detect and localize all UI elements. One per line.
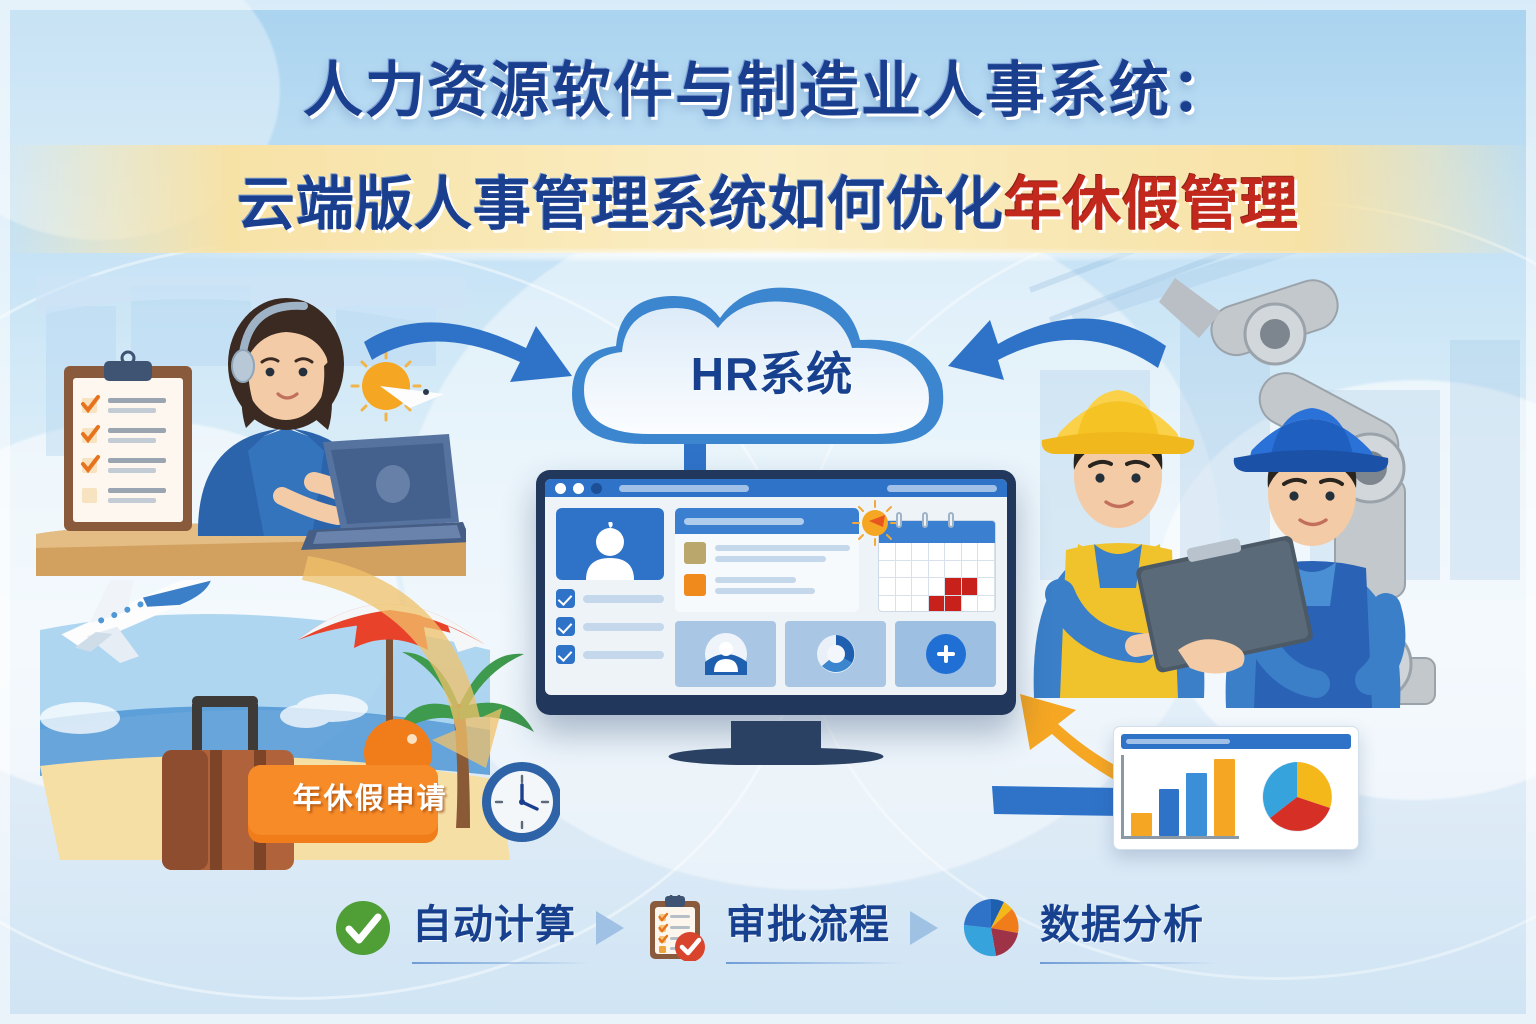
profile-tile[interactable]: [675, 621, 776, 687]
feature-label: 审批流程: [726, 903, 890, 947]
page-title: 人力资源软件与制造业人事系统：: [0, 42, 1536, 129]
calendar-grid: [879, 543, 995, 612]
analytics-card[interactable]: [1113, 726, 1359, 850]
feature-label: 数据分析: [1040, 903, 1204, 947]
dashboard-left-column: [556, 508, 664, 687]
dashboard-checkbox-row[interactable]: [556, 645, 664, 664]
calendar-leave-day: [929, 596, 946, 613]
checkbox-checked-icon[interactable]: [556, 617, 575, 636]
calendar-rings: [896, 512, 954, 528]
leave-calendar-card[interactable]: [868, 508, 996, 612]
feature-item-data-analysis[interactable]: 数据分析: [960, 892, 1204, 964]
bar: [1159, 789, 1180, 836]
dashboard-screen: [545, 479, 1007, 695]
dashboard-right-column: [675, 508, 996, 687]
pie-chart-icon: [1258, 758, 1336, 836]
clipboard-check-icon: [646, 897, 708, 959]
subtitle-highlight-text: 年休假管理: [1004, 172, 1299, 237]
feature-label-wrap: 数据分析: [1040, 892, 1204, 964]
status-swatch: [684, 574, 706, 596]
pie-chart-icon: [960, 897, 1022, 959]
dashboard-titlebar: [545, 479, 1007, 497]
avatar: [556, 508, 664, 580]
cloud-label: HR系统: [552, 338, 992, 404]
info-row-lines: [715, 577, 850, 594]
sun-icon: [852, 500, 898, 546]
employee-info-card[interactable]: [675, 508, 859, 612]
analytics-card-body: [1121, 755, 1351, 839]
feature-label: 自动计算: [412, 903, 576, 947]
bar: [1186, 773, 1207, 836]
calendar-leave-day: [962, 578, 979, 596]
feature-label-wrap: 审批流程: [726, 892, 890, 964]
calendar-leave-day: [945, 596, 962, 613]
info-card-header: [675, 508, 859, 534]
window-dot: [573, 483, 584, 494]
subtitle-primary-text: 云端版人事管理系统如何优化: [237, 172, 1004, 237]
donut-chart-icon: [814, 632, 858, 676]
info-card-rows: [675, 534, 859, 612]
checkbox-checked-icon[interactable]: [556, 645, 575, 664]
green-check-icon: [332, 897, 394, 959]
calendar-leave-day: [945, 578, 962, 596]
donut-chart-tile[interactable]: [785, 621, 886, 687]
info-row: [684, 574, 850, 596]
info-row: [684, 542, 850, 564]
feature-label-wrap: 自动计算: [412, 892, 576, 964]
checkbox-label-placeholder: [583, 651, 664, 659]
hr-system-cloud: HR系统: [552, 278, 992, 458]
feature-item-auto-calculation[interactable]: 自动计算: [332, 892, 576, 964]
dashboard-tiles: [675, 621, 996, 687]
subtitle-band: 云端版人事管理系统如何优化年休假管理: [0, 145, 1536, 253]
window-dot: [591, 483, 602, 494]
checkbox-checked-icon[interactable]: [556, 589, 575, 608]
arrow-gold-curve-icon: [300, 540, 560, 790]
add-tile[interactable]: [895, 621, 996, 687]
window-dot: [555, 483, 566, 494]
status-swatch: [684, 542, 706, 564]
pie-chart: [1243, 755, 1351, 839]
title-block: 人力资源软件与制造业人事系统：: [0, 42, 1536, 129]
monitor-base: [669, 748, 884, 765]
dashboard-checkbox-row[interactable]: [556, 589, 664, 608]
titlebar-placeholder: [619, 485, 749, 492]
person-circle-icon: [704, 632, 748, 676]
bar: [1214, 759, 1235, 836]
user-avatar-icon: [578, 522, 642, 580]
dashboard-body: [545, 497, 1007, 695]
chevron-right-icon: [590, 905, 632, 951]
hr-dashboard-monitor: [536, 470, 1016, 715]
plus-icon[interactable]: [926, 634, 966, 674]
info-row-lines: [715, 545, 850, 562]
titlebar-placeholder: [887, 485, 997, 492]
bar: [1131, 813, 1152, 836]
chevron-right-icon: [904, 905, 946, 951]
checkbox-label-placeholder: [583, 623, 664, 631]
feature-item-approval-flow[interactable]: 审批流程: [646, 892, 890, 964]
checkbox-label-placeholder: [583, 595, 664, 603]
analytics-card-header: [1121, 734, 1351, 749]
dashboard-top-panels: [675, 508, 996, 612]
bar-chart: [1121, 755, 1239, 839]
page-subtitle: 云端版人事管理系统如何优化年休假管理: [237, 157, 1299, 241]
infographic-canvas: 人力资源软件与制造业人事系统： 云端版人事管理系统如何优化年休假管理: [0, 0, 1536, 1024]
dashboard-checkbox-row[interactable]: [556, 617, 664, 636]
footer-feature-list: 自动计算: [0, 868, 1536, 988]
